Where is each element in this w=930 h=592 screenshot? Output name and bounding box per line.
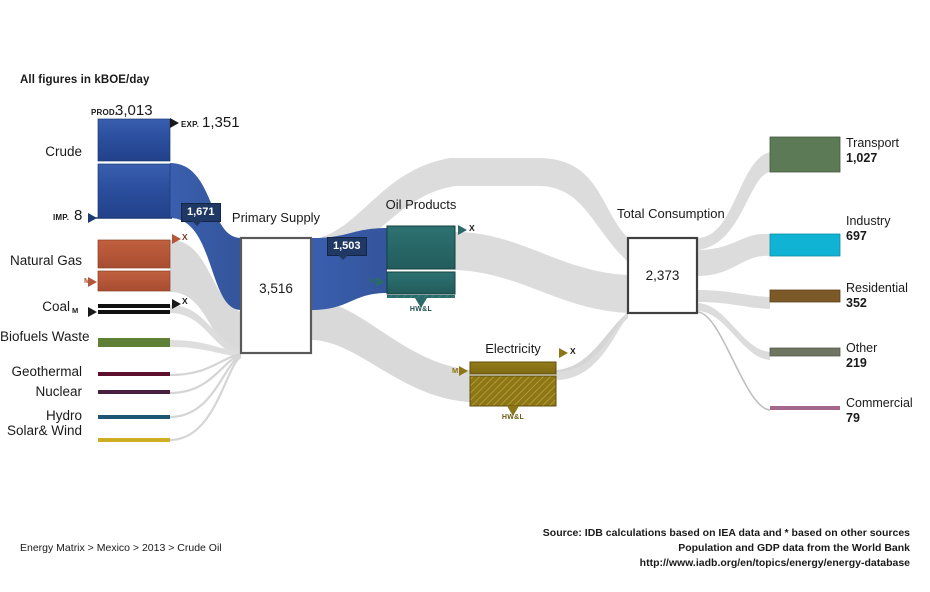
- electricity-export-arrow-icon: [559, 348, 568, 358]
- coal-import-arrow-icon: [88, 307, 97, 317]
- source-bars: [92, 119, 172, 442]
- node-label-primary-supply: Primary Supply: [231, 211, 321, 225]
- gas-export-marker: X: [182, 232, 188, 242]
- sector-bar-other[interactable]: [770, 348, 840, 356]
- breadcrumb[interactable]: Energy Matrix > Mexico > 2013 > Crude Oi…: [20, 542, 222, 554]
- source-line-2: Population and GDP data from the World B…: [410, 542, 910, 554]
- units-note: All figures in kBOE/day: [20, 74, 149, 86]
- flow-oil-to-consumption: [455, 232, 628, 313]
- crude-exp-caption: EXP.: [181, 120, 199, 129]
- crude-import-arrow-icon: [88, 213, 97, 223]
- crude-export-arrow-icon: [170, 118, 179, 128]
- sector-label-transport: Transport: [846, 136, 899, 151]
- crude-imp-value: 8: [74, 207, 82, 224]
- node-label-oil-products: Oil Products: [378, 198, 464, 212]
- sector-label-industry: Industry: [846, 214, 890, 229]
- bar-coal-upper[interactable]: [98, 304, 170, 308]
- node-electricity-lower[interactable]: [470, 376, 556, 406]
- flow-callout-oil-value: 1,503: [333, 240, 361, 252]
- bar-coal-lower[interactable]: [98, 310, 170, 314]
- bar-natural-gas-lower[interactable]: [98, 271, 170, 291]
- sector-label-other: Other: [846, 341, 877, 356]
- bar-crude-lower[interactable]: [98, 164, 170, 218]
- flow-callout-crude-value: 1,671: [187, 206, 215, 218]
- node-value-total-consumption: 2,373: [628, 268, 697, 283]
- source-label-geothermal: Geothermal: [0, 365, 82, 379]
- flow-to-other: [697, 303, 770, 360]
- node-label-total-consumption: Total Consumption: [617, 207, 709, 221]
- coal-import-marker: M: [72, 306, 78, 315]
- sector-label-commercial: Commercial: [846, 396, 913, 411]
- electricity-import-marker: M: [452, 366, 458, 375]
- sector-bar-transport[interactable]: [770, 137, 840, 172]
- sector-bar-industry[interactable]: [770, 234, 840, 256]
- source-label-biofuels-waste: Biofuels Waste: [0, 330, 82, 344]
- sector-bars: [770, 137, 840, 410]
- source-label-coal: Coal: [0, 300, 70, 314]
- crude-prod-value: 3,013: [115, 102, 153, 119]
- flow-callout-crude[interactable]: 1,671: [181, 203, 221, 222]
- crude-exp-value: 1,351: [202, 114, 240, 131]
- sector-value-industry: 697: [846, 229, 867, 244]
- source-line-1: Source: IDB calculations based on IEA da…: [410, 527, 910, 539]
- source-label-solar-wind: Solar& Wind: [0, 424, 82, 438]
- sankey-diagram: All figures in kBOE/day PROD. 3,013 EXP.…: [0, 0, 930, 592]
- source-label-crude: Crude: [0, 145, 82, 159]
- bar-hydro[interactable]: [98, 415, 170, 419]
- node-oil-products-hwl-band: [387, 295, 455, 298]
- crude-prod-caption: PROD.: [91, 108, 117, 117]
- oil-export-marker: X: [469, 223, 475, 233]
- sector-bar-residential[interactable]: [770, 290, 840, 302]
- crude-imp-caption: IMP.: [53, 213, 69, 222]
- electricity-hwl-label: HW&L: [489, 414, 537, 421]
- sector-label-residential: Residential: [846, 281, 908, 296]
- source-label-nuclear: Nuclear: [0, 385, 82, 399]
- electricity-export-marker: X: [570, 346, 576, 356]
- sector-value-transport: 1,027: [846, 151, 877, 166]
- bar-geothermal[interactable]: [98, 372, 170, 376]
- node-oil-products-lower[interactable]: [387, 272, 455, 294]
- node-value-primary-supply: 3,516: [241, 281, 311, 296]
- oil-hwl-label: HW&L: [397, 306, 445, 313]
- coal-export-marker: X: [182, 296, 188, 306]
- bar-natural-gas-upper[interactable]: [98, 240, 170, 268]
- sector-value-commercial: 79: [846, 411, 860, 426]
- flow-callout-oil[interactable]: 1,503: [327, 237, 367, 256]
- bar-solar-wind[interactable]: [98, 438, 170, 442]
- bar-crude-upper[interactable]: [98, 119, 170, 161]
- sector-bar-commercial[interactable]: [770, 406, 840, 410]
- sector-value-residential: 352: [846, 296, 867, 311]
- node-label-electricity: Electricity: [476, 342, 550, 356]
- bar-nuclear[interactable]: [98, 390, 170, 394]
- node-oil-products-upper[interactable]: [387, 226, 455, 269]
- bar-biofuels-waste[interactable]: [98, 338, 170, 347]
- flow-top-to-consumption: [538, 158, 628, 262]
- source-line-3[interactable]: http://www.iadb.org/en/topics/energy/ene…: [410, 557, 910, 569]
- gas-import-marker: M: [84, 276, 90, 285]
- flow-hydro: [170, 356, 241, 417]
- sector-value-other: 219: [846, 356, 867, 371]
- node-electricity-upper[interactable]: [470, 362, 556, 374]
- oil-import-marker: M: [369, 276, 375, 285]
- sankey-canvas: [0, 0, 930, 592]
- source-label-hydro: Hydro: [0, 409, 82, 423]
- source-label-natural-gas: Natural Gas: [0, 254, 82, 268]
- flow-supply-to-electricity: [311, 300, 470, 402]
- flow-electricity-to-consumption: [556, 312, 628, 378]
